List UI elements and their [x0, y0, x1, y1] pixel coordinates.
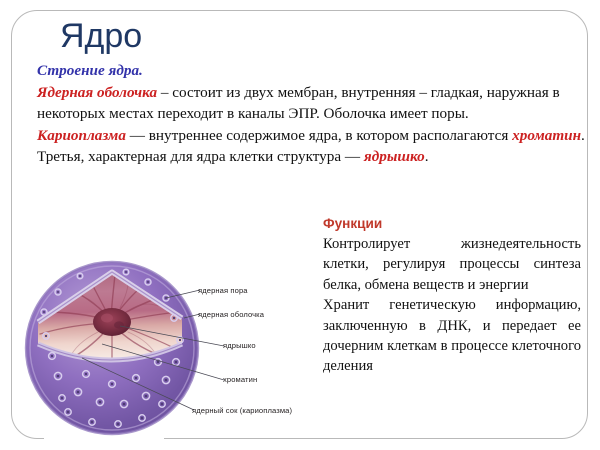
third-structure-text-part2: . — [425, 148, 429, 165]
karyoplasm-paragraph: Кариоплазма — внутреннее содержимое ядра… — [37, 125, 585, 147]
nucleus-diagram — [16, 252, 316, 448]
slide-canvas: Ядро Строение ядра. Ядерная оболочка – с… — [0, 0, 600, 450]
diagram-label-chromatin: хроматин — [223, 375, 257, 384]
functions-paragraph-2: Хранит генетическую информацию, заключен… — [323, 295, 581, 377]
term-nucleolus: ядрышко — [364, 148, 425, 165]
diagram-label-nuclear-pore: ядерная пора — [198, 286, 248, 295]
envelope-paragraph: Ядерная оболочка – состоит из двух мембр… — [37, 82, 585, 125]
karyoplasm-text-part2: . — [581, 127, 585, 144]
nucleolus-paragraph: Третья, характерная для ядра клетки стру… — [37, 146, 585, 168]
structure-heading: Строение ядра. — [37, 60, 585, 82]
third-structure-text-part1: Третья, характерная для ядра клетки стру… — [37, 148, 364, 165]
diagram-label-nuclear-sap: ядерный сок (кариоплазма) — [192, 406, 292, 415]
diagram-label-nucleolus: ядрышко — [223, 341, 256, 350]
page-title: Ядро — [60, 16, 142, 56]
functions-block: Функции Контролирует жизнедеятельность к… — [323, 214, 581, 377]
term-karyoplasm: Кариоплазма — [37, 127, 126, 144]
term-nuclear-envelope: Ядерная оболочка — [37, 84, 157, 101]
nucleolus-core — [93, 308, 131, 336]
nucleus-description-text: Строение ядра. Ядерная оболочка – состои… — [37, 60, 585, 168]
diagram-label-nuclear-envelope: ядерная оболочка — [198, 310, 264, 319]
term-chromatin: хроматин — [512, 127, 581, 144]
functions-paragraph-1: Контролирует жизнедеятельность клетки, р… — [323, 234, 581, 295]
structure-heading-label: Строение ядра. — [37, 62, 143, 79]
functions-heading: Функции — [323, 214, 581, 233]
karyoplasm-text-part1: — внутреннее содержимое ядра, в котором … — [126, 127, 512, 144]
